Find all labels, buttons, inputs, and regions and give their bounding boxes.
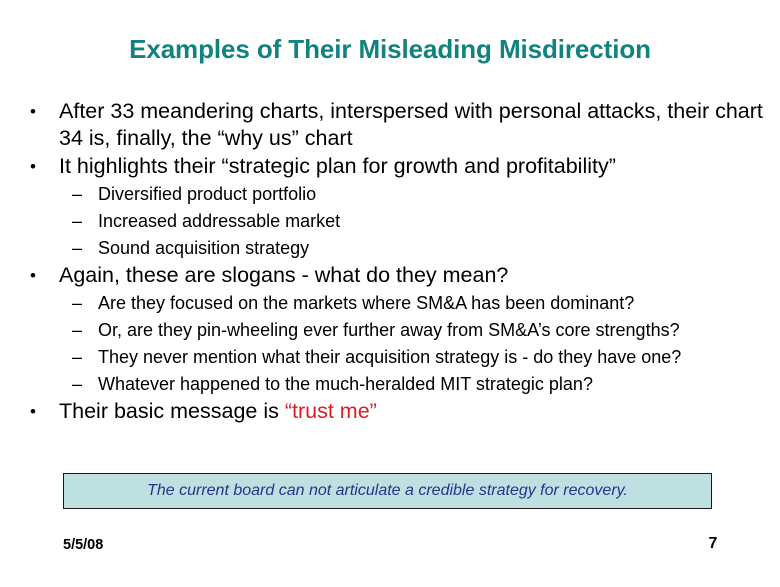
sub-bullet-item: – Or, are they pin-wheeling ever further… <box>0 317 780 343</box>
bullet-marker: • <box>30 262 36 289</box>
bullet-item: • Their basic message is “trust me” <box>0 398 780 425</box>
bullet-list: • After 33 meandering charts, interspers… <box>0 98 780 426</box>
sub-bullet-item: – They never mention what their acquisit… <box>0 344 780 370</box>
sub-bullet-text: Increased addressable market <box>98 211 340 231</box>
bullet-text: Their basic message is <box>59 399 285 423</box>
sub-bullet-text: Diversified product portfolio <box>98 184 316 204</box>
bullet-item: • After 33 meandering charts, interspers… <box>0 98 780 152</box>
sub-bullet-item: – Are they focused on the markets where … <box>0 290 780 316</box>
sub-bullet-item: – Sound acquisition strategy <box>0 235 780 261</box>
sub-bullet-marker: – <box>72 235 82 261</box>
sub-bullet-marker: – <box>72 290 82 316</box>
bullet-marker: • <box>30 98 36 125</box>
bullet-text: After 33 meandering charts, interspersed… <box>59 99 763 150</box>
sub-bullet-marker: – <box>72 317 82 343</box>
sub-bullet-marker: – <box>72 371 82 397</box>
sub-bullet-item: – Increased addressable market <box>0 208 780 234</box>
bullet-item: • It highlights their “strategic plan fo… <box>0 153 780 180</box>
sub-bullet-text: Are they focused on the markets where SM… <box>98 293 634 313</box>
sub-bullet-marker: – <box>72 181 82 207</box>
bullet-text: Again, these are slogans - what do they … <box>59 263 508 287</box>
callout-text: The current board can not articulate a c… <box>139 482 636 500</box>
bullet-text-accent: “trust me” <box>285 399 377 423</box>
bullet-marker: • <box>30 153 36 180</box>
sub-bullet-text: They never mention what their acquisitio… <box>98 347 681 367</box>
sub-bullet-item: – Diversified product portfolio <box>0 181 780 207</box>
sub-bullet-marker: – <box>72 344 82 370</box>
sub-bullet-item: – Whatever happened to the much-heralded… <box>0 371 780 397</box>
callout-box: The current board can not articulate a c… <box>63 473 712 509</box>
bullet-item: • Again, these are slogans - what do the… <box>0 262 780 289</box>
footer-date: 5/5/08 <box>63 537 103 553</box>
sub-bullet-marker: – <box>72 208 82 234</box>
page-title: Examples of Their Misleading Misdirectio… <box>0 34 780 65</box>
sub-bullet-text: Or, are they pin-wheeling ever further a… <box>98 320 680 340</box>
footer-page-number: 7 <box>698 535 728 553</box>
sub-bullet-text: Whatever happened to the much-heralded M… <box>98 374 593 394</box>
bullet-text: It highlights their “strategic plan for … <box>59 154 616 178</box>
sub-bullet-text: Sound acquisition strategy <box>98 238 309 258</box>
slide: Examples of Their Misleading Misdirectio… <box>0 0 780 587</box>
bullet-marker: • <box>30 398 36 425</box>
